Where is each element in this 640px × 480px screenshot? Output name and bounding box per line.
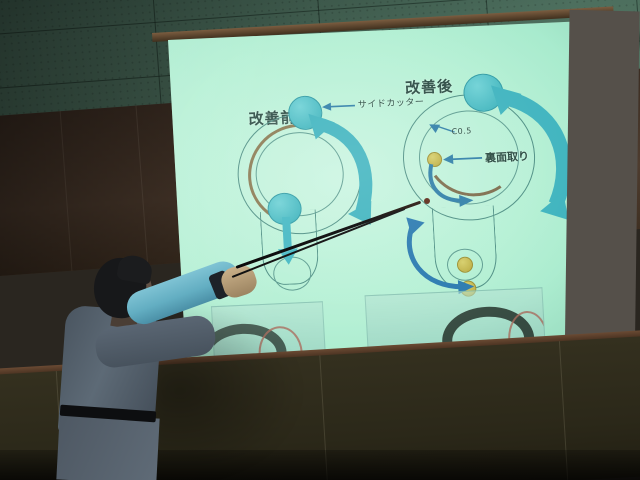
slide-right-annotation-chamfer: C0.5 <box>451 126 472 136</box>
slide-right-title: 改善後 <box>404 75 453 98</box>
right-lower-curve-arrow-icon <box>400 214 479 301</box>
pointer-tip-icon <box>424 198 430 204</box>
left-down-arrow-icon <box>276 216 299 267</box>
screenshot-root: 改善前 サイドカッター <box>0 0 640 480</box>
screen-right-edge <box>565 10 640 371</box>
presenter-hips <box>56 413 159 480</box>
